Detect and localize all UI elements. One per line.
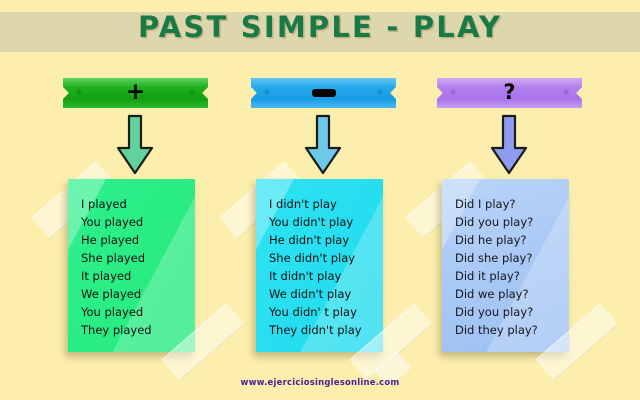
- note-lines: I didn't play You didn't play He didn't …: [269, 195, 379, 339]
- column-negative: ★ ★ I didn't play You didn't play He did…: [228, 78, 418, 368]
- note-line: I played: [81, 195, 191, 213]
- star-icon: ★: [262, 88, 272, 99]
- page-title: PAST SIMPLE - PLAY: [0, 10, 640, 44]
- note-interrogative: Did I play? Did you play? Did he play? D…: [442, 179, 569, 352]
- arrow-down-icon: [300, 114, 346, 176]
- note-line: You played: [81, 213, 191, 231]
- note-affirmative: I played You played He played She played…: [68, 179, 195, 352]
- note-line: Did you play?: [455, 303, 565, 321]
- star-icon: ★: [561, 88, 571, 99]
- note-line: She didn't play: [269, 249, 379, 267]
- column-affirmative: ★ + ★ I played You played He played She …: [40, 78, 230, 368]
- note-line: Did he play?: [455, 231, 565, 249]
- note-line: Did I play?: [455, 195, 565, 213]
- note-line: You didn' t play: [269, 303, 379, 321]
- note-line: He didn't play: [269, 231, 379, 249]
- question-mark-icon: ?: [503, 82, 515, 103]
- note-negative: I didn't play You didn't play He didn't …: [256, 179, 383, 352]
- note-line: You played: [81, 303, 191, 321]
- note-line: I didn't play: [269, 195, 379, 213]
- note-lines: Did I play? Did you play? Did he play? D…: [455, 195, 565, 339]
- note-line: We didn't play: [269, 285, 379, 303]
- star-icon: ★: [448, 88, 458, 99]
- note-line: Did you play?: [455, 213, 565, 231]
- note-line: Did we play?: [455, 285, 565, 303]
- column-interrogative: ★ ? ★ Did I play? Did you play? Did he p…: [414, 78, 604, 368]
- note-line: It didn't play: [269, 267, 379, 285]
- note-line: They didn't play: [269, 321, 379, 339]
- note-line: Did she play?: [455, 249, 565, 267]
- note-line: It played: [81, 267, 191, 285]
- arrow-down-icon: [486, 114, 532, 176]
- note-line: They played: [81, 321, 191, 339]
- plus-icon: +: [126, 81, 145, 104]
- star-icon: ★: [74, 88, 84, 99]
- banner-interrogative: ★ ? ★: [437, 78, 582, 108]
- note-line: We played: [81, 285, 191, 303]
- note-line: Did it play?: [455, 267, 565, 285]
- star-icon: ★: [187, 88, 197, 99]
- minus-icon: [312, 89, 336, 97]
- note-lines: I played You played He played She played…: [81, 195, 191, 339]
- star-icon: ★: [375, 88, 385, 99]
- banner-affirmative: ★ + ★: [63, 78, 208, 108]
- note-line: She played: [81, 249, 191, 267]
- footer-url: www.ejerciciosinglesonline.com: [0, 378, 640, 388]
- note-line: Did they play?: [455, 321, 565, 339]
- banner-negative: ★ ★: [251, 78, 396, 108]
- note-line: You didn't play: [269, 213, 379, 231]
- note-line: He played: [81, 231, 191, 249]
- arrow-down-icon: [112, 114, 158, 176]
- past-simple-poster: PAST SIMPLE - PLAY ★ + ★ I played You pl…: [0, 0, 640, 400]
